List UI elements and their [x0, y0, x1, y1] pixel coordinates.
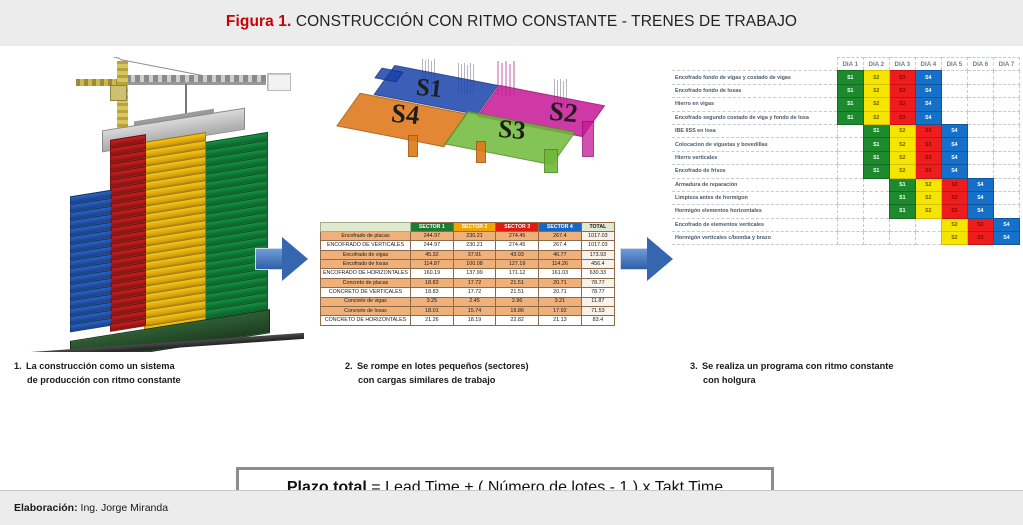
sector-table-cell: 20.71: [539, 278, 582, 287]
schedule-block-s3: S3: [941, 178, 967, 191]
schedule-block-s3: S3: [941, 205, 967, 218]
schedule-block-s2: S2: [889, 165, 915, 178]
sector-table-cell: 17.72: [453, 278, 496, 287]
schedule-empty-cell: [941, 71, 967, 84]
schedule-block-s2: S2: [863, 71, 889, 84]
sector-table-row-label: CONCRETO DE VERTICALES: [321, 288, 411, 297]
sector-table-cell: 230.21: [453, 241, 496, 250]
schedule-row: Limpieza antes de hormigonS1S2S3S4: [672, 191, 1020, 204]
schedule-empty-cell: [941, 111, 967, 124]
schedule-row: Hormigón verticales c/bomba y brazoS2S3S…: [672, 232, 1020, 245]
sector-table-cell: 18.83: [411, 288, 454, 297]
schedule-block-s3: S3: [889, 98, 915, 111]
schedule-row: Colocacion de viguetas y bovedillasS1S2S…: [672, 138, 1020, 151]
schedule-block-s2: S2: [863, 84, 889, 97]
schedule-task-label: Hormigón verticales c/bomba y brazo: [672, 232, 837, 245]
caption-3-number: 3.: [690, 359, 702, 373]
sector-table-col-header: SECTOR 2: [453, 223, 496, 232]
schedule-row: Encofrado de elementos verticalesS2S3S4: [672, 218, 1020, 231]
schedule-row: IBE IISS en losaS1S2S3S4: [672, 124, 1020, 137]
figure-body: S1 S4 S2 S3 SECTOR 1SECTOR 2SECTOR 3SECT…: [0, 47, 1023, 490]
schedule-task-label: Armadura de reparación: [672, 178, 837, 191]
schedule-header-row: DIA 1DIA 2DIA 3DIA 4DIA 5DIA 6DIA 7: [672, 58, 1020, 71]
column-3: [544, 149, 558, 173]
table-row: Concreto de losas18.0115.7419.8617.9271.…: [321, 306, 615, 315]
sector-table-cell: 267.4: [539, 241, 582, 250]
schedule-empty-cell: [863, 191, 889, 204]
schedule-block-s4: S4: [993, 232, 1019, 245]
sector-table-cell: 18.01: [411, 306, 454, 315]
sector-table-cell: 20.71: [539, 288, 582, 297]
schedule-empty-cell: [993, 165, 1019, 178]
schedule-task-col-header: [672, 58, 837, 71]
schedule-task-label: Encofrado de elementos verticales: [672, 218, 837, 231]
table-row: Encofrado de vigas45.3237.9143.9346.7717…: [321, 250, 615, 259]
sector-table-cell: 2.96: [496, 297, 539, 306]
schedule-block-s1: S1: [889, 178, 915, 191]
sector-table-cell: 21.26: [411, 316, 454, 325]
caption-1-number: 1.: [14, 359, 26, 373]
sector-table-cell: 160.19: [411, 269, 454, 278]
schedule-task-label: Colocacion de viguetas y bovedillas: [672, 138, 837, 151]
sector-label-s1: S1: [415, 74, 443, 104]
schedule-block-s2: S2: [889, 138, 915, 151]
sector-table-cell: 244.97: [411, 241, 454, 250]
sector-table-body: Encofrado de placas244.97230.21274.45267…: [321, 232, 615, 325]
schedule-block-s4: S4: [941, 151, 967, 164]
figure-header-band: Figura 1. CONSTRUCCIÓN CON RITMO CONSTAN…: [0, 0, 1023, 47]
schedule-block-s1: S1: [837, 71, 863, 84]
schedule-empty-cell: [993, 151, 1019, 164]
schedule-head: DIA 1DIA 2DIA 3DIA 4DIA 5DIA 6DIA 7: [672, 58, 1020, 71]
schedule-block-s4: S4: [941, 124, 967, 137]
sector-table-total-cell: 630.33: [581, 269, 614, 278]
schedule-day-header: DIA 3: [889, 58, 915, 71]
schedule-empty-cell: [993, 98, 1019, 111]
sector-table-cell: 161.03: [539, 269, 582, 278]
sector-label-s4: S4: [390, 98, 420, 132]
schedule-empty-cell: [837, 165, 863, 178]
schedule-block-s3: S3: [967, 218, 993, 231]
schedule-block-s2: S2: [863, 111, 889, 124]
schedule-empty-cell: [967, 151, 993, 164]
caption-2: 2.Se rompe en lotes pequeños (sectores) …: [345, 359, 665, 388]
sector-table-col-header: SECTOR 3: [496, 223, 539, 232]
caption-2-line1: Se rompe en lotes pequeños (sectores): [357, 361, 529, 371]
schedule-block-s2: S2: [915, 191, 941, 204]
schedule-empty-cell: [941, 98, 967, 111]
schedule-block-s1: S1: [863, 138, 889, 151]
source-credit-label: Elaboración:: [14, 502, 78, 514]
schedule-task-label: Hormigón elementos horizontales: [672, 205, 837, 218]
sector-table-row-label: Encofrado de vigas: [321, 250, 411, 259]
sector-table-cell: 114.87: [411, 260, 454, 269]
sector-table-cell: 127.19: [496, 260, 539, 269]
sector-label-s3: S3: [497, 114, 526, 147]
schedule-task-label: Limpieza antes de hormigon: [672, 191, 837, 204]
schedule-empty-cell: [863, 232, 889, 245]
schedule-block-s1: S1: [837, 111, 863, 124]
schedule-empty-cell: [837, 151, 863, 164]
sector-table-row-label: ENCOFRADO DE HORIZONTALES: [321, 269, 411, 278]
table-row: ENCOFRADO DE HORIZONTALES160.19137.99171…: [321, 269, 615, 278]
schedule-block-s4: S4: [915, 84, 941, 97]
sectorization-panel: S1 S4 S2 S3 SECTOR 1SECTOR 2SECTOR 3SECT…: [310, 57, 615, 352]
sector-table-cell: 37.91: [453, 250, 496, 259]
sector-table-cell: 2.45: [453, 297, 496, 306]
sector-table-cell: 17.92: [539, 306, 582, 315]
schedule-task-label: IBE IISS en losa: [672, 124, 837, 137]
page-title: Figura 1. CONSTRUCCIÓN CON RITMO CONSTAN…: [0, 13, 1023, 31]
sector-table-cell: 22.82: [496, 316, 539, 325]
sector-table-cell: 3.25: [411, 297, 454, 306]
schedule-empty-cell: [993, 71, 1019, 84]
column-1: [408, 135, 418, 157]
sector-table-row-label: ENCOFRADO DE VERTICALES: [321, 241, 411, 250]
schedule-block-s4: S4: [993, 218, 1019, 231]
schedule-task-label: Encofrado segundo costado de viga y fond…: [672, 111, 837, 124]
schedule-block-s2: S2: [941, 232, 967, 245]
sector-table-cell: 46.77: [539, 250, 582, 259]
mini-cube-icon: [267, 73, 291, 91]
schedule-block-s4: S4: [915, 71, 941, 84]
schedule-empty-cell: [889, 232, 915, 245]
schedule-empty-cell: [993, 205, 1019, 218]
figure-footer-band: Elaboración: Ing. Jorge Miranda: [0, 490, 1023, 525]
sector-table-cell: 18.83: [411, 278, 454, 287]
sector-table-col-header: SECTOR 4: [539, 223, 582, 232]
schedule-empty-cell: [863, 218, 889, 231]
source-credit-value: Ing. Jorge Miranda: [78, 502, 168, 514]
schedule-empty-cell: [837, 178, 863, 191]
sector-table-cell: 21.51: [496, 278, 539, 287]
schedule-day-header: DIA 6: [967, 58, 993, 71]
sector-table-row-label: CONCRETO DE HORIZONTALES: [321, 316, 411, 325]
schedule-empty-cell: [993, 84, 1019, 97]
sector-table-col-header: [321, 223, 411, 232]
schedule-block-s1: S1: [837, 98, 863, 111]
schedule-block-s4: S4: [967, 205, 993, 218]
schedule-empty-cell: [837, 138, 863, 151]
schedule-task-label: Hierro verticales: [672, 151, 837, 164]
sector-table-cell: 137.99: [453, 269, 496, 278]
sector-table-cell: 15.74: [453, 306, 496, 315]
caption-2-line2: con cargas similares de trabajo: [345, 373, 665, 387]
sector-table-cell: 274.45: [496, 241, 539, 250]
schedule-task-label: Hierro en vigas: [672, 98, 837, 111]
table-row: ENCOFRADO DE VERTICALES244.97230.21274.4…: [321, 241, 615, 250]
schedule-empty-cell: [863, 205, 889, 218]
sector-table-cell: 43.93: [496, 250, 539, 259]
schedule-task-label: Encofrado fondo de vigas y costado de vi…: [672, 71, 837, 84]
table-row: CONCRETO DE VERTICALES18.8317.7221.5120.…: [321, 288, 615, 297]
schedule-empty-cell: [837, 232, 863, 245]
caption-1: 1.La construcción como un sistema de pro…: [14, 359, 314, 388]
caption-2-number: 2.: [345, 359, 357, 373]
schedule-empty-cell: [837, 205, 863, 218]
floor-slab-stack: [14, 57, 304, 352]
sector-table-header-row: SECTOR 1SECTOR 2SECTOR 3SECTOR 4TOTAL: [321, 223, 615, 232]
sector-table-cell: 230.21: [453, 232, 496, 241]
schedule-row: Encofrado fondo de vigas y costado de vi…: [672, 71, 1020, 84]
schedule-block-s3: S3: [915, 165, 941, 178]
schedule-empty-cell: [863, 178, 889, 191]
schedule-row: Hormigón elementos horizontalesS1S2S3S4: [672, 205, 1020, 218]
table-row: Concreto de placas18.8317.7221.5120.7178…: [321, 278, 615, 287]
sector-table-total-cell: 1017.03: [581, 232, 614, 241]
schedule-block-s1: S1: [863, 151, 889, 164]
sector-table-row-label: Encofrado de losas: [321, 260, 411, 269]
schedule-row: Encofrado de frisosS1S2S3S4: [672, 165, 1020, 178]
schedule-block-s4: S4: [941, 165, 967, 178]
table-row: Encofrado de placas244.97230.21274.45267…: [321, 232, 615, 241]
schedule-empty-cell: [993, 124, 1019, 137]
schedule-block-s3: S3: [941, 191, 967, 204]
sector-table-cell: 267.4: [539, 232, 582, 241]
schedule-block-s3: S3: [967, 232, 993, 245]
schedule-day-header: DIA 2: [863, 58, 889, 71]
tower-illustration: [14, 57, 304, 352]
sector-table-total-cell: 83.4: [581, 316, 614, 325]
sector-table-row-label: Concreto de losas: [321, 306, 411, 315]
sector-table-cell: 45.32: [411, 250, 454, 259]
column-4: [582, 121, 594, 157]
schedule-block-s1: S1: [863, 165, 889, 178]
schedule-block-s3: S3: [915, 124, 941, 137]
caption-3-line1: Se realiza un programa con ritmo constan…: [702, 361, 893, 371]
column-2: [476, 141, 486, 163]
schedule-block-s2: S2: [889, 151, 915, 164]
schedule-block-s4: S4: [941, 138, 967, 151]
schedule-row: Hierro verticalesS1S2S3S4: [672, 151, 1020, 164]
caption-3-line2: con holgura: [690, 373, 1010, 387]
schedule-block-s2: S2: [889, 124, 915, 137]
sector-table-head: SECTOR 1SECTOR 2SECTOR 3SECTOR 4TOTAL: [321, 223, 615, 232]
schedule-block-s3: S3: [915, 151, 941, 164]
sector-3d-model: S1 S4 S2 S3: [316, 57, 616, 217]
schedule-empty-cell: [915, 218, 941, 231]
schedule-empty-cell: [993, 138, 1019, 151]
sector-table-total-cell: 173.93: [581, 250, 614, 259]
sector-table-cell: 21.13: [539, 316, 582, 325]
sector-table-cell: 17.72: [453, 288, 496, 297]
sector-table-total-cell: 1017.03: [581, 241, 614, 250]
table-row: Encofrado de losas114.87100.08127.19114.…: [321, 260, 615, 269]
schedule-block-s4: S4: [967, 178, 993, 191]
schedule-empty-cell: [993, 178, 1019, 191]
schedule-empty-cell: [993, 111, 1019, 124]
schedule-row: Encofrado segundo costado de viga y fond…: [672, 111, 1020, 124]
figure-label: Figura 1.: [226, 13, 292, 30]
schedule-empty-cell: [967, 138, 993, 151]
sector-table-cell: 114.26: [539, 260, 582, 269]
schedule-block-s4: S4: [915, 98, 941, 111]
schedule-empty-cell: [967, 98, 993, 111]
schedule-empty-cell: [837, 124, 863, 137]
schedule-day-header: DIA 1: [837, 58, 863, 71]
schedule-row: Hierro en vigasS1S2S3S4: [672, 98, 1020, 111]
schedule-task-label: Encofrado de frisos: [672, 165, 837, 178]
schedule-empty-cell: [993, 191, 1019, 204]
schedule-empty-cell: [941, 84, 967, 97]
schedule-body: Encofrado fondo de vigas y costado de vi…: [672, 71, 1020, 245]
schedule-block-s1: S1: [837, 84, 863, 97]
caption-1-line1: La construcción como un sistema: [26, 361, 175, 371]
sector-table-col-header: SECTOR 1: [411, 223, 454, 232]
schedule-empty-cell: [915, 232, 941, 245]
schedule-empty-cell: [967, 165, 993, 178]
schedule-block-s1: S1: [889, 205, 915, 218]
sector-table-row-label: Concreto de placas: [321, 278, 411, 287]
takt-schedule-table: DIA 1DIA 2DIA 3DIA 4DIA 5DIA 6DIA 7 Enco…: [672, 57, 1020, 245]
caption-1-line2: de producción con ritmo constante: [14, 373, 314, 387]
schedule-block-s3: S3: [915, 138, 941, 151]
schedule-block-s4: S4: [967, 191, 993, 204]
flow-arrow-2-icon: [620, 237, 674, 281]
schedule-empty-cell: [837, 218, 863, 231]
schedule-block-s1: S1: [889, 191, 915, 204]
sector-workload-table: SECTOR 1SECTOR 2SECTOR 3SECTOR 4TOTAL En…: [320, 222, 615, 326]
sector-table-cell: 171.12: [496, 269, 539, 278]
schedule-empty-cell: [889, 218, 915, 231]
sector-table-cell: 100.08: [453, 260, 496, 269]
sector-table-cell: 18.19: [453, 316, 496, 325]
sector-label-s2: S2: [548, 96, 578, 130]
source-credit: Elaboración: Ing. Jorge Miranda: [14, 502, 168, 514]
schedule-task-label: Encofrado fondo de losas: [672, 84, 837, 97]
tower-scene: [14, 57, 304, 352]
table-row: Concreto de vigas3.252.452.963.2111.87: [321, 297, 615, 306]
takt-schedule-panel: DIA 1DIA 2DIA 3DIA 4DIA 5DIA 6DIA 7 Enco…: [672, 57, 1020, 352]
sector-table-row-label: Concreto de vigas: [321, 297, 411, 306]
schedule-day-header: DIA 7: [993, 58, 1019, 71]
schedule-empty-cell: [967, 111, 993, 124]
schedule-block-s2: S2: [863, 98, 889, 111]
schedule-empty-cell: [967, 71, 993, 84]
sector-table-cell: 3.21: [539, 297, 582, 306]
sector-table-total-cell: 78.77: [581, 288, 614, 297]
sector-table-total-cell: 456.4: [581, 260, 614, 269]
schedule-block-s3: S3: [889, 84, 915, 97]
sector-table-cell: 244.97: [411, 232, 454, 241]
schedule-empty-cell: [967, 124, 993, 137]
schedule-block-s2: S2: [915, 178, 941, 191]
sector-table-cell: 274.45: [496, 232, 539, 241]
schedule-block-s3: S3: [889, 111, 915, 124]
caption-3: 3.Se realiza un programa con ritmo const…: [690, 359, 1010, 388]
schedule-block-s4: S4: [915, 111, 941, 124]
schedule-empty-cell: [837, 191, 863, 204]
schedule-empty-cell: [967, 84, 993, 97]
figure-title-text: CONSTRUCCIÓN CON RITMO CONSTANTE - TRENE…: [296, 13, 797, 30]
schedule-day-header: DIA 5: [941, 58, 967, 71]
sector-table-cell: 19.86: [496, 306, 539, 315]
table-row: CONCRETO DE HORIZONTALES21.2618.1922.822…: [321, 316, 615, 325]
flow-arrow-1-icon: [255, 237, 309, 281]
schedule-block-s1: S1: [863, 124, 889, 137]
schedule-row: Armadura de reparaciónS1S2S3S4: [672, 178, 1020, 191]
sector-table-total-cell: 78.77: [581, 278, 614, 287]
sector-table-cell: 21.51: [496, 288, 539, 297]
sector-table-total-cell: 11.87: [581, 297, 614, 306]
schedule-block-s2: S2: [941, 218, 967, 231]
sector-table-row-label: Encofrado de placas: [321, 232, 411, 241]
schedule-block-s3: S3: [889, 71, 915, 84]
schedule-block-s2: S2: [915, 205, 941, 218]
sector-table-total-cell: 71.53: [581, 306, 614, 315]
schedule-row: Encofrado fondo de losasS1S2S3S4: [672, 84, 1020, 97]
schedule-day-header: DIA 4: [915, 58, 941, 71]
sector-table-col-header: TOTAL: [581, 223, 614, 232]
